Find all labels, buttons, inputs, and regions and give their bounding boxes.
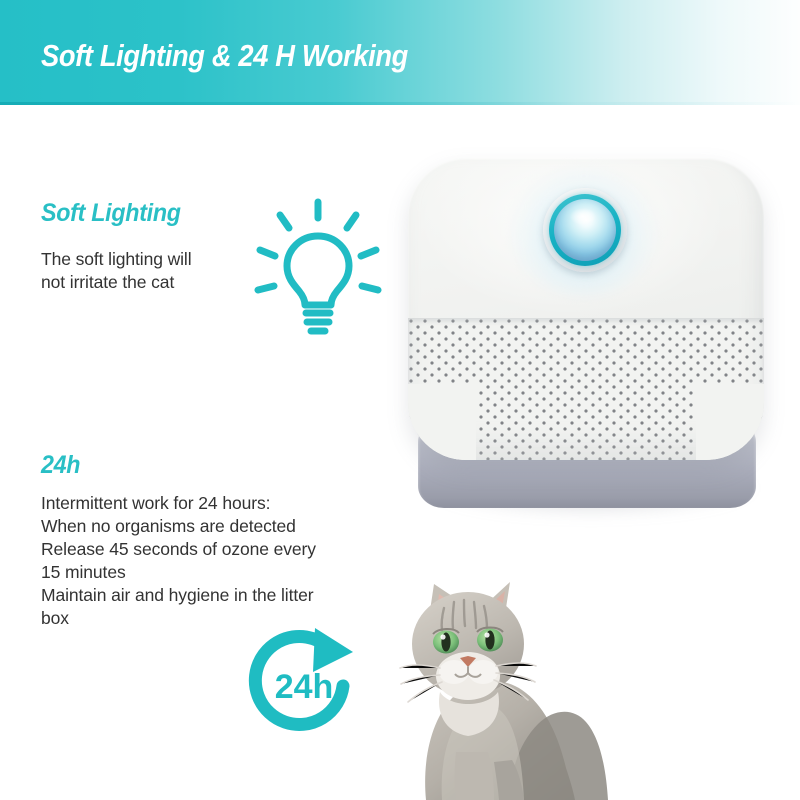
24h-icon-label: 24h [275,668,334,706]
section-heading-soft-lighting: Soft Lighting [41,198,181,228]
section-body-soft-lighting: The soft lighting will not irritate the … [41,248,281,294]
section-heading-24h: 24h [41,450,80,480]
lightbulb-icon [252,192,384,340]
product-feature-page: Soft Lighting & 24 H Working Soft Lighti… [0,0,800,800]
cat-photo [398,572,698,800]
24h-cycle-icon: 24h [243,622,369,744]
section-body-24h: Intermittent work for 24 hours: When no … [41,492,393,630]
product-device [404,158,776,518]
power-indicator-button[interactable] [554,199,616,261]
page-title: Soft Lighting & 24 H Working [41,36,408,76]
header-underline [0,102,800,105]
